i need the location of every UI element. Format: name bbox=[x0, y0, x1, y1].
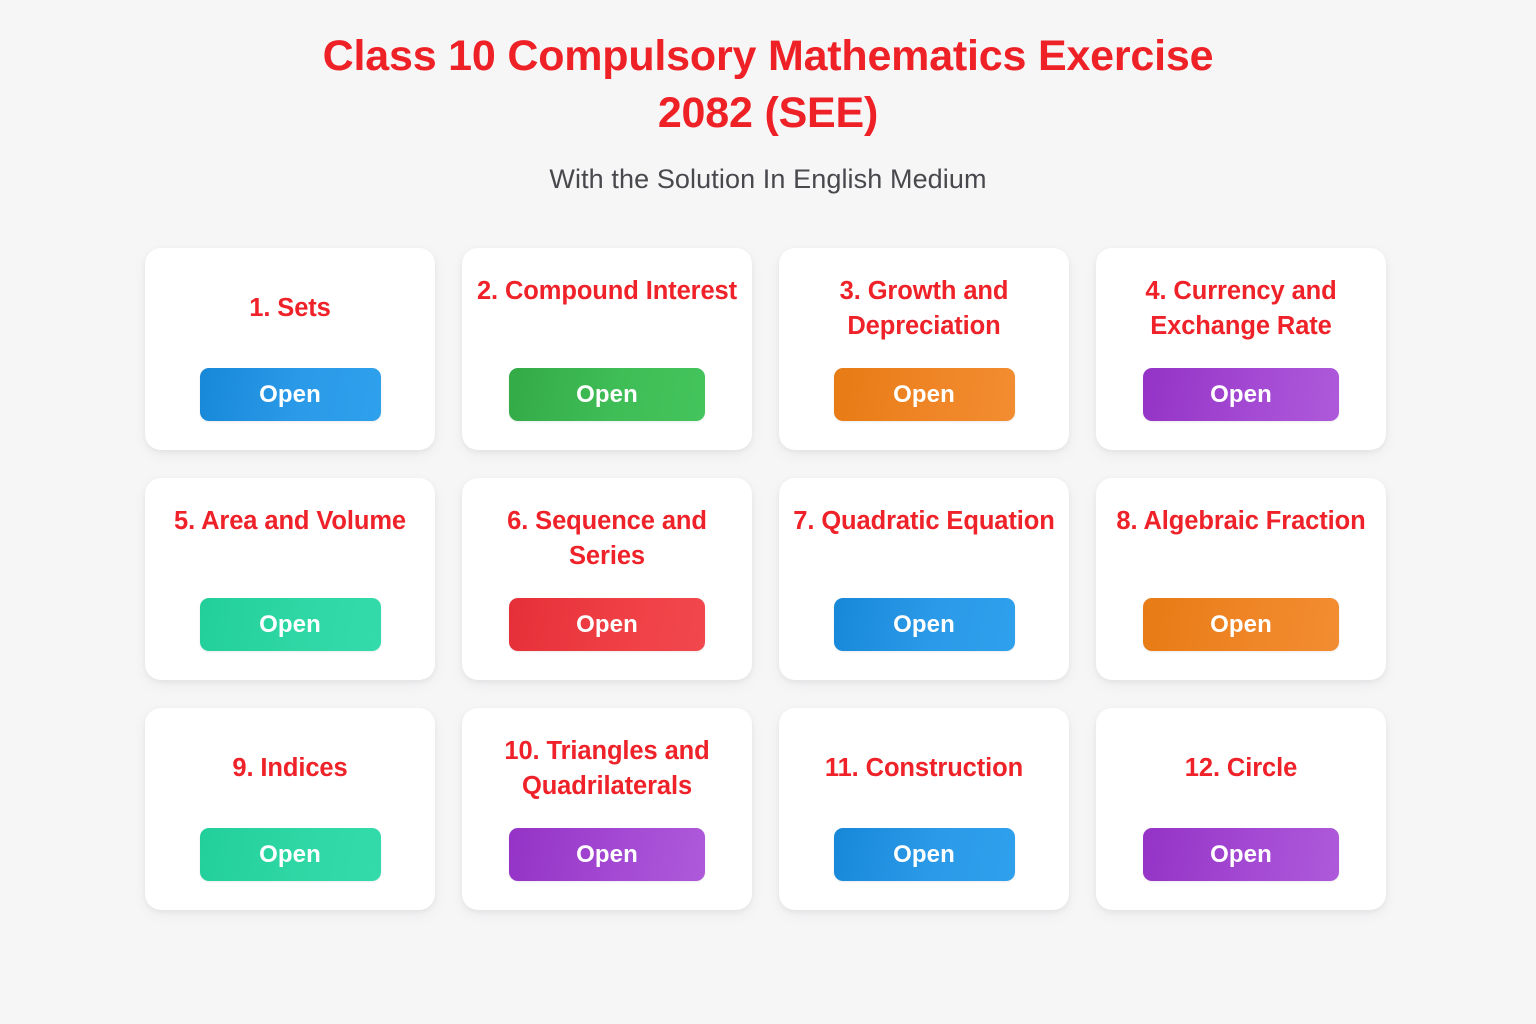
page-header: Class 10 Compulsory Mathematics Exercise… bbox=[0, 0, 1536, 195]
exercise-card-title: 1. Sets bbox=[159, 248, 421, 326]
exercise-card[interactable]: 8. Algebraic FractionOpen bbox=[1096, 478, 1386, 680]
exercise-card-title: 2. Compound Interest bbox=[476, 248, 738, 309]
exercise-card-grid: 1. SetsOpen2. Compound InterestOpen3. Gr… bbox=[145, 248, 1403, 910]
exercise-card[interactable]: 6. Sequence and SeriesOpen bbox=[462, 478, 752, 680]
exercise-card[interactable]: 3. Growth and DepreciationOpen bbox=[779, 248, 1069, 450]
open-button[interactable]: Open bbox=[200, 598, 381, 651]
open-button[interactable]: Open bbox=[834, 368, 1015, 421]
exercise-card[interactable]: 12. CircleOpen bbox=[1096, 708, 1386, 910]
exercise-card[interactable]: 1. SetsOpen bbox=[145, 248, 435, 450]
exercise-card-title: 6. Sequence and Series bbox=[476, 478, 738, 573]
open-button[interactable]: Open bbox=[834, 828, 1015, 881]
exercise-card[interactable]: 4. Currency and Exchange RateOpen bbox=[1096, 248, 1386, 450]
open-button[interactable]: Open bbox=[200, 828, 381, 881]
open-button[interactable]: Open bbox=[200, 368, 381, 421]
open-button[interactable]: Open bbox=[1143, 598, 1339, 651]
open-button[interactable]: Open bbox=[509, 828, 705, 881]
exercise-card[interactable]: 5. Area and VolumeOpen bbox=[145, 478, 435, 680]
exercise-card-title: 10. Triangles and Quadrilaterals bbox=[476, 708, 738, 803]
page-title-line-2: 2082 (SEE) bbox=[658, 89, 878, 137]
exercise-card-title: 12. Circle bbox=[1110, 708, 1372, 786]
open-button[interactable]: Open bbox=[1143, 368, 1339, 421]
page-subtitle: With the Solution In English Medium bbox=[0, 164, 1536, 195]
exercise-card[interactable]: 11. ConstructionOpen bbox=[779, 708, 1069, 910]
exercise-card-title: 7. Quadratic Equation bbox=[793, 478, 1055, 539]
page-title: Class 10 Compulsory Mathematics Exercise… bbox=[188, 28, 1348, 142]
exercise-card[interactable]: 9. IndicesOpen bbox=[145, 708, 435, 910]
exercise-card[interactable]: 2. Compound InterestOpen bbox=[462, 248, 752, 450]
exercise-card-title: 4. Currency and Exchange Rate bbox=[1110, 248, 1372, 343]
open-button[interactable]: Open bbox=[509, 598, 705, 651]
open-button[interactable]: Open bbox=[834, 598, 1015, 651]
page-root: Class 10 Compulsory Mathematics Exercise… bbox=[0, 0, 1536, 1024]
page-title-line-1: Class 10 Compulsory Mathematics Exercise bbox=[323, 32, 1214, 80]
exercise-card[interactable]: 7. Quadratic EquationOpen bbox=[779, 478, 1069, 680]
exercise-card-title: 8. Algebraic Fraction bbox=[1110, 478, 1372, 539]
exercise-card-title: 3. Growth and Depreciation bbox=[793, 248, 1055, 343]
open-button[interactable]: Open bbox=[509, 368, 705, 421]
exercise-card[interactable]: 10. Triangles and QuadrilateralsOpen bbox=[462, 708, 752, 910]
open-button[interactable]: Open bbox=[1143, 828, 1339, 881]
exercise-card-title: 9. Indices bbox=[159, 708, 421, 786]
exercise-card-title: 11. Construction bbox=[793, 708, 1055, 786]
exercise-card-title: 5. Area and Volume bbox=[159, 478, 421, 539]
